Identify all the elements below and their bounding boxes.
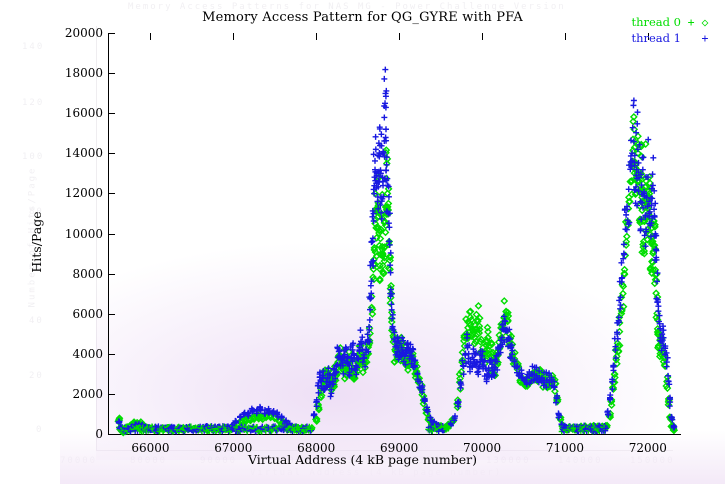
data-point [631,97,637,103]
data-points-layer [109,33,681,434]
data-point [501,298,507,304]
y-axis-tick-mark [109,394,115,395]
data-point [633,130,639,136]
y-axis-tick-label: 14000 [65,146,109,160]
data-point [624,234,630,240]
data-point [383,135,389,141]
chart-canvas: Memory Access Patterns for NAS MG - Powe… [0,0,725,484]
y-axis-tick-label: 2000 [72,387,109,401]
series-thread-0 [115,114,677,435]
legend-label-thread-1: thread 1 [631,30,685,46]
x-axis-tick-mark [233,33,234,40]
data-point [650,155,656,161]
y-axis-tick-mark [109,153,115,154]
y-axis-tick-label: 4000 [72,347,109,361]
y-axis-tick-label: 20000 [65,26,109,40]
data-point [386,224,392,230]
data-point [386,194,392,200]
data-point [476,303,482,309]
baseline-dense-band [116,423,609,434]
data-point [650,182,656,188]
watermark-ytick: 40 [29,316,44,326]
data-point [328,393,334,399]
y-axis-tick-mark [109,73,115,74]
watermark-ytick: 100 [22,152,44,162]
legend: thread 0 + ◇ thread 1 + [631,14,711,46]
data-point [650,171,656,177]
legend-item-thread-1[interactable]: thread 1 + [631,30,711,46]
data-point [369,239,375,245]
data-point [383,93,389,99]
data-point [610,363,616,369]
y-axis-tick-mark [109,274,115,275]
y-axis-tick-mark [109,314,115,315]
plot-area: 0200040006000800010000120001400016000180… [108,33,681,435]
x-axis-tick-mark [565,33,566,40]
data-point [381,114,387,120]
y-axis-tick-mark [109,33,115,34]
watermark-ytick: 20 [29,371,44,381]
y-axis-tick-mark [109,354,115,355]
y-axis-tick-label: 12000 [65,186,109,200]
x-axis-label: Virtual Address (4 kB page number) [0,452,725,467]
data-point [378,131,384,137]
data-point [626,186,632,192]
plus-marker-icon: + [685,30,711,46]
data-point [382,67,388,73]
data-point [367,317,373,323]
y-axis-tick-mark [109,434,115,435]
watermark-ytick: 140 [22,42,44,52]
data-point [383,126,389,132]
y-axis-tick-mark [109,113,115,114]
data-point [388,301,394,307]
watermark-xlabel: Virtual Address (4 kB page number) [250,468,502,478]
data-point [372,158,378,164]
data-point [359,334,365,340]
data-point [635,109,641,115]
data-point [369,214,375,220]
diamond-marker-icon: + ◇ [685,14,711,30]
x-axis-tick-mark [399,33,400,40]
x-axis-tick-mark [482,33,483,40]
data-point [631,114,637,120]
data-point [655,303,661,309]
y-axis-tick-mark [109,193,115,194]
data-point [387,262,393,268]
data-point [357,327,363,333]
chart-title: Memory Access Pattern for QG_GYRE with P… [0,10,725,25]
y-axis-tick-mark [109,234,115,235]
legend-item-thread-0[interactable]: thread 0 + ◇ [631,14,711,30]
y-axis-tick-label: 18000 [65,66,109,80]
y-axis-tick-label: 16000 [65,106,109,120]
watermark-ytick: 120 [22,98,44,108]
y-axis-label: Hits/Page [29,211,44,272]
data-point [623,212,629,218]
x-axis-tick-mark [316,33,317,40]
data-point [387,300,393,306]
data-point [383,167,389,173]
series-thread-1 [116,67,678,435]
x-axis-tick-mark [150,33,151,40]
y-axis-tick-label: 6000 [72,307,109,321]
y-axis-tick-label: 8000 [72,267,109,281]
y-axis-tick-label: 10000 [65,227,109,241]
y-axis-tick-label: 0 [95,427,109,441]
data-point [381,76,387,82]
legend-label-thread-0: thread 0 [631,14,685,30]
data-point [637,227,643,233]
watermark-ytick: 0 [36,425,43,435]
data-point [630,125,636,131]
data-point [373,134,379,140]
data-point [615,336,621,342]
